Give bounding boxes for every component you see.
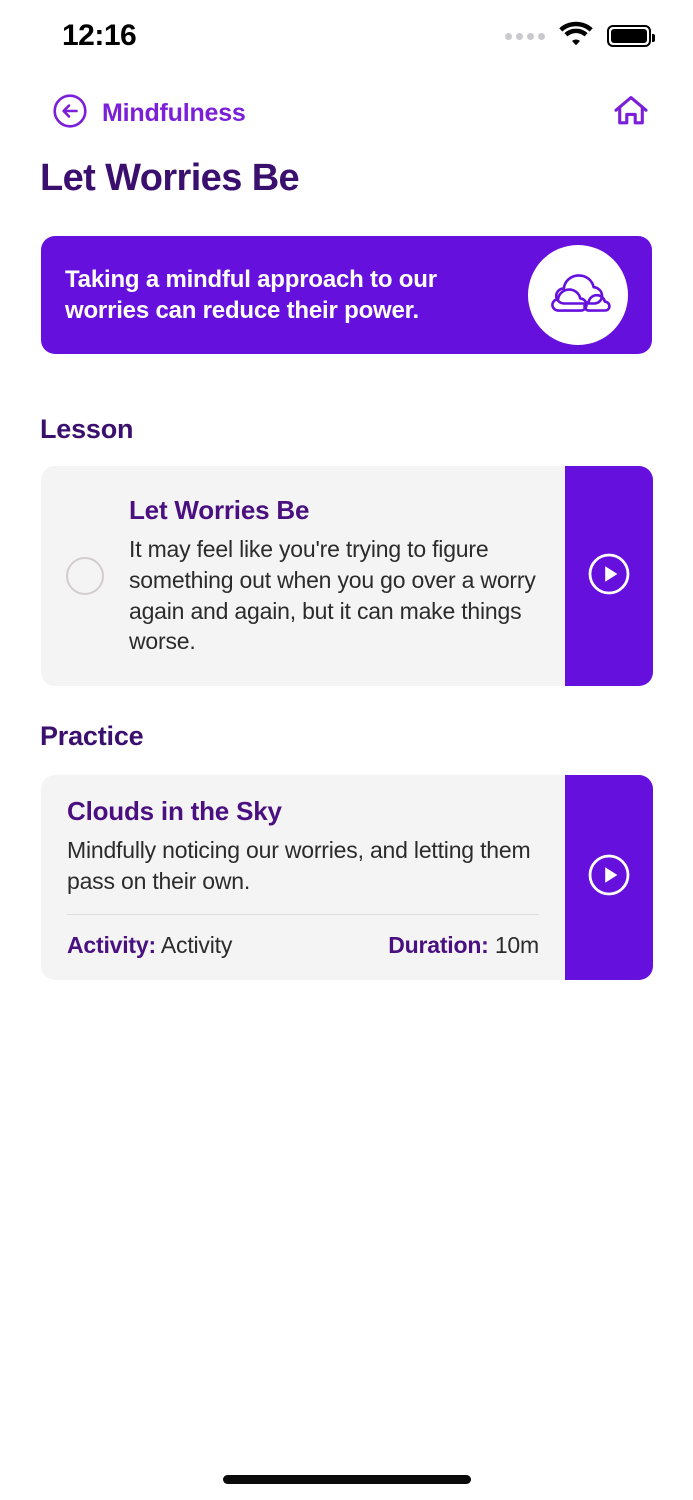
lesson-play-button[interactable]	[565, 466, 653, 686]
page-title: Let Worries Be	[40, 157, 299, 200]
battery-icon	[607, 25, 651, 47]
status-indicators	[505, 21, 651, 51]
nav-bar: Mindfulness	[0, 86, 693, 140]
hero-icon-badge	[528, 245, 628, 345]
practice-card-title: Clouds in the Sky	[67, 796, 539, 827]
back-arrow-circle-icon	[52, 93, 88, 134]
hero-banner: Taking a mindful approach to our worries…	[41, 236, 652, 354]
lesson-checkbox-column	[41, 557, 129, 595]
app-screen: 12:16 Mindfulness	[0, 0, 693, 1500]
clouds-icon	[545, 265, 611, 326]
practice-activity-value: Activity	[161, 932, 232, 958]
back-label: Mindfulness	[102, 99, 246, 128]
practice-duration-value: 10m	[495, 932, 539, 958]
wifi-icon	[559, 21, 593, 51]
practice-text-column: Clouds in the Sky Mindfully noticing our…	[41, 796, 565, 959]
practice-duration-label: Duration:	[388, 932, 488, 958]
lesson-text-column: Let Worries Be It may feel like you're t…	[129, 495, 565, 656]
play-circle-icon	[587, 853, 631, 902]
practice-activity-label: Activity:	[67, 932, 156, 958]
lesson-card[interactable]: Let Worries Be It may feel like you're t…	[41, 466, 653, 686]
practice-activity: Activity: Activity	[67, 932, 232, 959]
practice-card-body: Clouds in the Sky Mindfully noticing our…	[41, 775, 565, 980]
home-indicator	[223, 1475, 471, 1484]
practice-play-button[interactable]	[565, 775, 653, 980]
status-bar: 12:16	[0, 0, 693, 72]
lesson-card-description: It may feel like you're trying to figure…	[129, 534, 539, 656]
section-heading-lesson: Lesson	[40, 414, 133, 445]
play-circle-icon	[587, 552, 631, 601]
home-icon	[611, 91, 651, 136]
practice-card-meta: Activity: Activity Duration: 10m	[67, 932, 539, 959]
home-button[interactable]	[611, 91, 651, 136]
practice-card-description: Mindfully noticing our worries, and lett…	[67, 835, 539, 896]
hero-text: Taking a mindful approach to our worries…	[65, 264, 528, 326]
practice-duration: Duration: 10m	[388, 932, 539, 959]
section-heading-practice: Practice	[40, 721, 143, 752]
practice-card-divider	[67, 914, 539, 915]
lesson-card-title: Let Worries Be	[129, 495, 539, 526]
lesson-complete-checkbox[interactable]	[66, 557, 104, 595]
back-button[interactable]: Mindfulness	[52, 93, 246, 134]
status-time: 12:16	[62, 19, 136, 53]
practice-card[interactable]: Clouds in the Sky Mindfully noticing our…	[41, 775, 653, 980]
lesson-card-body: Let Worries Be It may feel like you're t…	[41, 466, 565, 686]
cellular-signal-icon	[505, 33, 545, 40]
